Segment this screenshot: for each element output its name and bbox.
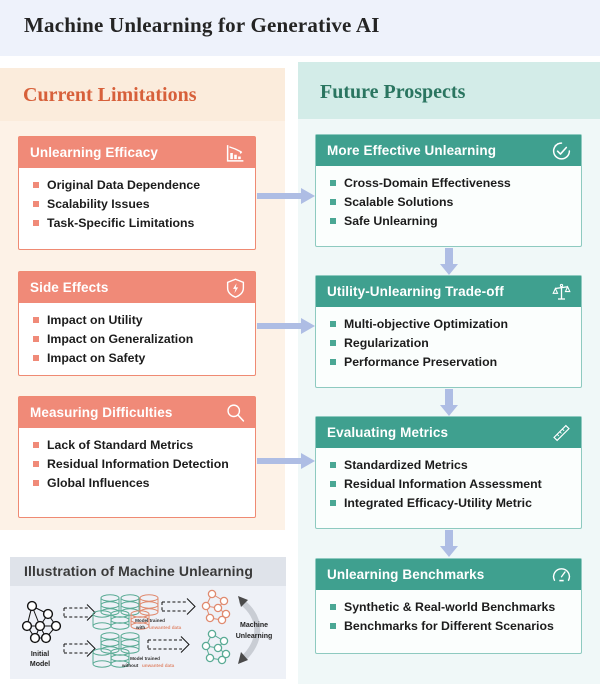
- card-header: Unlearning Efficacy: [19, 137, 255, 168]
- machine-unlearning-illustration: Initial Model: [10, 586, 286, 679]
- ruler-icon: [551, 422, 572, 443]
- bottom-caption-line1: Model trained: [130, 656, 160, 661]
- machine-unlearning-label-line2: Unlearning: [236, 633, 273, 640]
- list-item-label: Task-Specific Limitations: [47, 215, 194, 231]
- top-caption-highlight: unwanted data: [149, 625, 182, 630]
- machine-unlearning-curved-arrow: [242, 602, 257, 658]
- card-body: Multi-objective Optimization Regularizat…: [316, 307, 581, 379]
- list-item: Synthetic & Real-world Benchmarks: [316, 599, 581, 615]
- list-item-label: Impact on Safety: [47, 350, 145, 366]
- card-header: More Effective Unlearning: [316, 135, 581, 166]
- bullet-square-icon: [330, 359, 336, 365]
- list-item: Lack of Standard Metrics: [19, 437, 255, 453]
- bullet-square-icon: [330, 500, 336, 506]
- list-item: Global Influences: [19, 475, 255, 491]
- list-item: Safe Unlearning: [316, 213, 581, 229]
- check-circle-icon: [551, 140, 572, 161]
- card-title: Unlearning Benchmarks: [327, 567, 484, 582]
- list-item: Standardized Metrics: [316, 457, 581, 473]
- list-item: Scalability Issues: [19, 196, 255, 212]
- list-item-label: Original Data Dependence: [47, 177, 200, 193]
- list-item-label: Performance Preservation: [344, 354, 497, 370]
- card-title: Unlearning Efficacy: [30, 145, 158, 160]
- card-body: Original Data Dependence Scalability Iss…: [19, 168, 255, 240]
- illustration-panel: Illustration of Machine Unlearning Initi…: [10, 557, 286, 679]
- bullet-square-icon: [330, 321, 336, 327]
- card-header: Utility-Unlearning Trade-off: [316, 276, 581, 307]
- list-item: Impact on Safety: [19, 350, 255, 366]
- card-measuring-difficulties[interactable]: Measuring Difficulties Lack of Standard …: [18, 396, 256, 518]
- card-title: Utility-Unlearning Trade-off: [327, 284, 504, 299]
- bullet-square-icon: [330, 623, 336, 629]
- balance-scale-icon: [551, 281, 572, 302]
- bullet-square-icon: [330, 481, 336, 487]
- dashed-arrow-bottom-right: [148, 640, 182, 649]
- card-title: Evaluating Metrics: [327, 425, 448, 440]
- list-item: Impact on Generalization: [19, 331, 255, 347]
- list-item-label: Impact on Generalization: [47, 331, 193, 347]
- bullet-square-icon: [330, 199, 336, 205]
- page-title: Machine Unlearning for Generative AI: [24, 13, 380, 38]
- initial-model-label-line2: Model: [30, 661, 50, 668]
- arrow-more-effective-to-tradeoff: [437, 248, 461, 276]
- card-unlearning-efficacy[interactable]: Unlearning Efficacy Original Data Depend…: [18, 136, 256, 250]
- bullet-square-icon: [33, 182, 39, 188]
- bottom-caption-prefix: without: [121, 663, 139, 668]
- list-item-label: Regularization: [344, 335, 429, 351]
- list-item-label: Synthetic & Real-world Benchmarks: [344, 599, 555, 615]
- initial-model-label-line1: Initial: [31, 651, 49, 658]
- machine-unlearning-label-line1: Machine: [240, 622, 268, 629]
- list-item: Original Data Dependence: [19, 177, 255, 193]
- arrow-side-effects-to-tradeoff: [257, 315, 317, 337]
- list-item-label: Standardized Metrics: [344, 457, 468, 473]
- card-utility-unlearning-tradeoff[interactable]: Utility-Unlearning Trade-off Multi-objec…: [315, 275, 582, 388]
- arrowhead-top-right: [187, 599, 195, 615]
- card-more-effective-unlearning[interactable]: More Effective Unlearning Cross-Domain E…: [315, 134, 582, 247]
- gauge-icon: [551, 564, 572, 585]
- arrow-measuring-to-metrics: [257, 450, 317, 472]
- list-item: Impact on Utility: [19, 312, 255, 328]
- list-item-label: Cross-Domain Effectiveness: [344, 175, 511, 191]
- illustration-title: Illustration of Machine Unlearning: [24, 563, 253, 579]
- arrow-tradeoff-to-metrics: [437, 389, 461, 417]
- dashed-arrow-top-left: [64, 608, 88, 617]
- list-item: Integrated Efficacy-Utility Metric: [316, 495, 581, 511]
- list-item: Residual Information Detection: [19, 456, 255, 472]
- card-title: Side Effects: [30, 280, 108, 295]
- bullet-square-icon: [33, 336, 39, 342]
- card-title: Measuring Difficulties: [30, 405, 172, 420]
- list-item-label: Lack of Standard Metrics: [47, 437, 193, 453]
- bullet-square-icon: [33, 442, 39, 448]
- list-item: Benchmarks for Different Scenarios: [316, 618, 581, 634]
- card-body: Lack of Standard Metrics Residual Inform…: [19, 428, 255, 500]
- bullet-square-icon: [33, 220, 39, 226]
- list-item-label: Benchmarks for Different Scenarios: [344, 618, 554, 634]
- card-unlearning-benchmarks[interactable]: Unlearning Benchmarks Synthetic & Real-w…: [315, 558, 582, 654]
- card-header: Unlearning Benchmarks: [316, 559, 581, 590]
- bullet-square-icon: [33, 480, 39, 486]
- bullet-square-icon: [330, 340, 336, 346]
- list-item-label: Global Influences: [47, 475, 150, 491]
- list-item: Performance Preservation: [316, 354, 581, 370]
- dashed-arrow-bottom-left: [64, 644, 88, 653]
- arrow-metrics-to-benchmarks: [437, 530, 461, 558]
- diagram-root: Machine Unlearning for Generative AI Cur…: [0, 0, 600, 684]
- arrowhead-bottom-left: [87, 641, 95, 657]
- bullet-square-icon: [33, 355, 39, 361]
- card-body: Impact on Utility Impact on Generalizati…: [19, 303, 255, 375]
- list-item-label: Residual Information Assessment: [344, 476, 542, 492]
- list-item-label: Safe Unlearning: [344, 213, 438, 229]
- shield-icon: [225, 277, 246, 298]
- card-side-effects[interactable]: Side Effects Impact on Utility Impact on…: [18, 271, 256, 376]
- list-item: Cross-Domain Effectiveness: [316, 175, 581, 191]
- arrow-efficacy-to-more-effective: [257, 185, 317, 207]
- list-item-label: Impact on Utility: [47, 312, 143, 328]
- card-evaluating-metrics[interactable]: Evaluating Metrics Standardized Metrics …: [315, 416, 582, 529]
- bottom-caption-highlight: unwanted data: [142, 663, 175, 668]
- list-item: Residual Information Assessment: [316, 476, 581, 492]
- bullet-square-icon: [33, 461, 39, 467]
- top-caption-line1: Model trained: [135, 618, 165, 623]
- bullet-square-icon: [330, 218, 336, 224]
- magnifier-icon: [225, 402, 246, 423]
- bullet-square-icon: [33, 317, 39, 323]
- bullet-square-icon: [330, 462, 336, 468]
- card-header: Evaluating Metrics: [316, 417, 581, 448]
- card-title: More Effective Unlearning: [327, 143, 496, 158]
- list-item-label: Multi-objective Optimization: [344, 316, 508, 332]
- list-item: Regularization: [316, 335, 581, 351]
- bullet-square-icon: [330, 180, 336, 186]
- bullet-square-icon: [330, 604, 336, 610]
- list-item-label: Scalability Issues: [47, 196, 150, 212]
- dashed-arrow-top-right: [162, 602, 188, 611]
- card-body: Standardized Metrics Residual Informatio…: [316, 448, 581, 520]
- list-item-label: Residual Information Detection: [47, 456, 229, 472]
- card-body: Synthetic & Real-world Benchmarks Benchm…: [316, 590, 581, 643]
- left-column-heading: Current Limitations: [23, 84, 197, 107]
- declining-bar-chart-icon: [225, 142, 246, 163]
- card-body: Cross-Domain Effectiveness Scalable Solu…: [316, 166, 581, 238]
- arrowhead-bottom-right: [181, 637, 189, 653]
- bullet-square-icon: [33, 201, 39, 207]
- list-item: Multi-objective Optimization: [316, 316, 581, 332]
- list-item-label: Integrated Efficacy-Utility Metric: [344, 495, 532, 511]
- card-header: Side Effects: [19, 272, 255, 303]
- list-item: Task-Specific Limitations: [19, 215, 255, 231]
- list-item: Scalable Solutions: [316, 194, 581, 210]
- right-column-heading: Future Prospects: [320, 81, 465, 104]
- list-item-label: Scalable Solutions: [344, 194, 453, 210]
- top-caption-prefix: with: [135, 625, 145, 630]
- card-header: Measuring Difficulties: [19, 397, 255, 428]
